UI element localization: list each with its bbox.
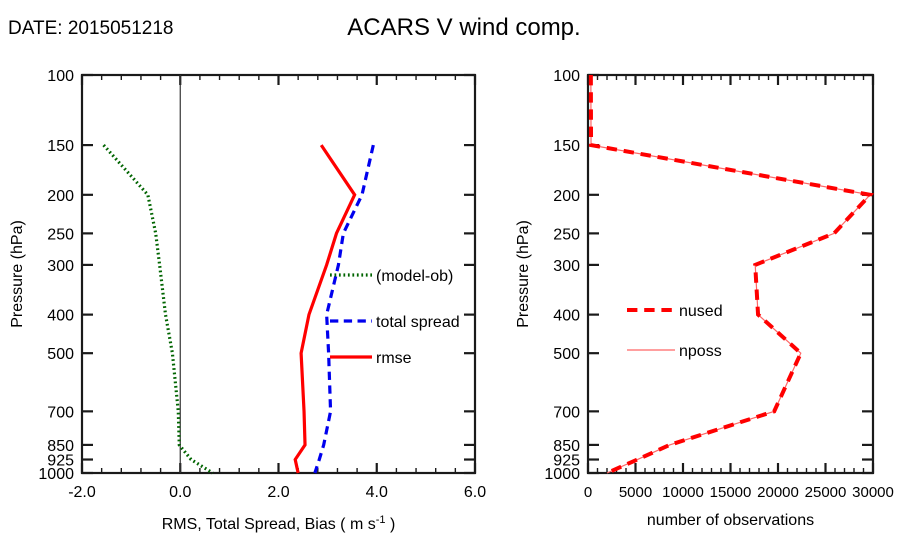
y-tick-label: 150: [47, 138, 74, 155]
x-tick-label: 4.0: [366, 484, 388, 501]
x-axis-title: RMS, Total Spread, Bias ( m s-1 ): [162, 514, 396, 533]
figure-root: DATE: 2015051218 ACARS V wind comp. -2.0…: [0, 0, 900, 560]
series-line-total-spread: [315, 145, 373, 473]
y-tick-label: 100: [47, 68, 74, 85]
x-axis-title-tail: ): [386, 516, 396, 533]
legend-model-ob-label: (model-ob): [376, 268, 453, 285]
y-tick-label: 1000: [38, 466, 74, 483]
series-line-nused: [591, 75, 870, 473]
y-tick-label: 150: [553, 138, 580, 155]
y-tick-label: 500: [47, 346, 74, 363]
y-axis-title: Pressure (hPa): [9, 220, 26, 328]
x-tick-label: 25000: [805, 484, 847, 501]
series-line-rmse: [295, 145, 354, 473]
y-tick-label: 500: [553, 346, 580, 363]
y-tick-label: 300: [553, 258, 580, 275]
x-tick-label: 5000: [619, 484, 652, 501]
panel-left: -2.00.02.04.06.0100150200250300400500700…: [9, 68, 486, 533]
y-tick-label: 400: [553, 308, 580, 325]
y-tick-label: 250: [553, 226, 580, 243]
x-tick-label: 0.0: [169, 484, 191, 501]
x-tick-label: 10000: [662, 484, 704, 501]
series-line-nposs: [591, 75, 870, 473]
legend-rmse-label: rmse: [376, 350, 412, 367]
x-tick-label: -2.0: [68, 484, 96, 501]
x-tick-label: 0: [584, 484, 592, 501]
y-tick-label: 100: [553, 68, 580, 85]
legend-left-panel: (model-ob)total spreadrmse: [330, 268, 460, 367]
y-tick-label: 700: [47, 404, 74, 421]
x-tick-label: 6.0: [464, 484, 486, 501]
plots-canvas: -2.00.02.04.06.0100150200250300400500700…: [0, 0, 900, 560]
legend-total-spread-label: total spread: [376, 314, 460, 331]
x-axis-title-superscript: -1: [376, 514, 386, 526]
y-tick-label: 250: [47, 226, 74, 243]
x-tick-label: 2.0: [267, 484, 289, 501]
y-axis-title: Pressure (hPa): [515, 220, 532, 328]
panel-right: 0500010000150002000025000300001001502002…: [515, 68, 894, 529]
plot-frame: [588, 75, 873, 473]
legend-right-panel: nusednposs: [627, 303, 723, 360]
y-tick-label: 400: [47, 308, 74, 325]
y-tick-label: 200: [47, 188, 74, 205]
x-tick-label: 15000: [710, 484, 752, 501]
y-tick-label: 300: [47, 258, 74, 275]
x-axis-title: number of observations: [647, 512, 814, 529]
series-line--model-ob-: [104, 145, 213, 473]
legend-nused-label: nused: [679, 303, 723, 320]
x-axis-title-main: RMS, Total Spread, Bias ( m s: [162, 516, 376, 533]
x-tick-label: 20000: [757, 484, 799, 501]
x-tick-label: 30000: [852, 484, 894, 501]
y-tick-label: 200: [553, 188, 580, 205]
y-tick-label: 700: [553, 404, 580, 421]
legend-nposs-label: nposs: [679, 343, 722, 360]
y-tick-label: 1000: [544, 466, 580, 483]
